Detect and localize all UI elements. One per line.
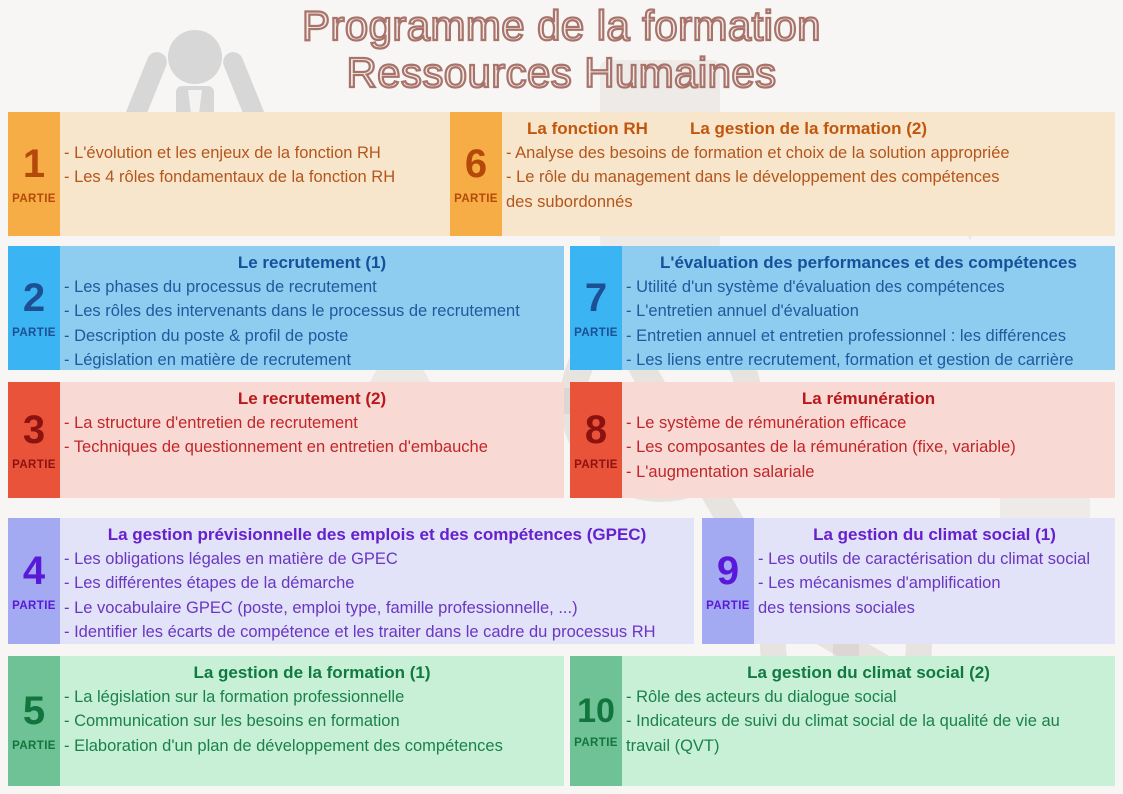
partie-label: PARTIE: [454, 193, 498, 205]
section-content-2: Le recrutement (1)- Les phases du proces…: [64, 246, 560, 370]
section-content-9: La gestion du climat social (1)- Les out…: [758, 518, 1111, 644]
section-bullet: - Utilité d'un système d'évaluation des …: [626, 275, 1111, 299]
section-panel-3[interactable]: 3PARTIELe recrutement (2)- La structure …: [8, 382, 564, 498]
partie-label: PARTIE: [12, 459, 56, 471]
section-panel-2[interactable]: 2PARTIELe recrutement (1)- Les phases du…: [8, 246, 564, 370]
section-content-6: La gestion de la formation (2)- Analyse …: [506, 112, 1111, 236]
section-bullet: - Techniques de questionnement en entret…: [64, 435, 560, 459]
section-title-8: La rémunération: [626, 389, 1111, 409]
section-bullet: - Législation en matière de recrutement: [64, 348, 560, 372]
section-bullet: - Les obligations légales en matière de …: [64, 547, 690, 571]
partie-label: PARTIE: [12, 327, 56, 339]
section-row-5: 5PARTIELa gestion de la formation (1)- L…: [8, 656, 1115, 786]
sections-grid: 1PARTIELa fonction RH- L'évolution et le…: [0, 0, 1123, 794]
section-content-4: La gestion prévisionnelle des emplois et…: [64, 518, 690, 644]
section-content-10: La gestion du climat social (2)- Rôle de…: [626, 656, 1111, 786]
section-title-9: La gestion du climat social (1): [758, 525, 1111, 545]
section-bullet: - Les phases du processus de recrutement: [64, 275, 560, 299]
section-title-6: La gestion de la formation (2): [506, 119, 1111, 139]
title-line-2: Ressources Humaines: [0, 49, 1123, 96]
partie-label: PARTIE: [574, 459, 618, 471]
partie-badge-4[interactable]: 4PARTIE: [8, 518, 60, 644]
section-panel-7[interactable]: 7PARTIEL'évaluation des performances et …: [570, 246, 1115, 370]
section-bullet: - Les outils de caractérisation du clima…: [758, 547, 1111, 571]
section-panel-4[interactable]: 4PARTIELa gestion prévisionnelle des emp…: [8, 518, 694, 644]
partie-number: 1: [23, 145, 45, 183]
section-bullet: - La législation sur la formation profes…: [64, 685, 560, 709]
section-title-3: Le recrutement (2): [64, 389, 560, 409]
partie-badge-10[interactable]: 10PARTIE: [570, 656, 622, 786]
section-bullet: - La structure d'entretien de recrutemen…: [64, 411, 560, 435]
partie-label: PARTIE: [12, 600, 56, 612]
partie-number: 2: [23, 279, 45, 317]
section-bullet: - Rôle des acteurs du dialogue social: [626, 685, 1111, 709]
partie-number: 8: [585, 411, 607, 449]
partie-label: PARTIE: [574, 327, 618, 339]
section-bullet: - Les mécanismes d'amplification: [758, 571, 1111, 595]
section-content-3: Le recrutement (2)- La structure d'entre…: [64, 382, 560, 498]
section-bullet: - Le système de rémunération efficace: [626, 411, 1111, 435]
section-title-5: La gestion de la formation (1): [64, 663, 560, 683]
section-bullet: - Analyse des besoins de formation et ch…: [506, 141, 1111, 165]
section-row-3: 3PARTIELe recrutement (2)- La structure …: [8, 382, 1115, 498]
section-bullet: - Communication sur les besoins en forma…: [64, 709, 560, 733]
section-bullet: - Les liens entre recrutement, formation…: [626, 348, 1111, 372]
partie-number: 9: [717, 552, 739, 590]
section-bullet: des subordonnés: [506, 190, 1111, 214]
section-bullet: - Les différentes étapes de la démarche: [64, 571, 690, 595]
partie-number: 5: [23, 692, 45, 730]
section-bullet: - Identifier les écarts de compétence et…: [64, 620, 690, 644]
partie-number: 7: [585, 279, 607, 317]
section-row-2: 2PARTIELe recrutement (1)- Les phases du…: [8, 246, 1115, 370]
partie-badge-7[interactable]: 7PARTIE: [570, 246, 622, 370]
partie-badge-9[interactable]: 9PARTIE: [702, 518, 754, 644]
section-panel-8[interactable]: 8PARTIELa rémunération- Le système de ré…: [570, 382, 1115, 498]
partie-number: 6: [465, 145, 487, 183]
section-bullet: - Description du poste & profil de poste: [64, 324, 560, 348]
partie-label: PARTIE: [12, 193, 56, 205]
section-bullet: - Le rôle du management dans le développ…: [506, 165, 1111, 189]
section-title-7: L'évaluation des performances et des com…: [626, 253, 1111, 273]
partie-label: PARTIE: [574, 737, 618, 749]
section-panel-9[interactable]: 9PARTIELa gestion du climat social (1)- …: [702, 518, 1115, 644]
section-bullet: - Les composantes de la rémunération (fi…: [626, 435, 1111, 459]
partie-number: 4: [23, 552, 45, 590]
partie-number: 3: [23, 411, 45, 449]
section-bullet: - Les rôles des intervenants dans le pro…: [64, 299, 560, 323]
section-bullet: - Le vocabulaire GPEC (poste, emploi typ…: [64, 596, 690, 620]
section-bullet: - Elaboration d'un plan de développement…: [64, 734, 560, 758]
section-row-4: 4PARTIELa gestion prévisionnelle des emp…: [8, 518, 1115, 644]
section-panel-5[interactable]: 5PARTIELa gestion de la formation (1)- L…: [8, 656, 564, 786]
title-line-1: Programme de la formation: [0, 2, 1123, 49]
section-bullet: des tensions sociales: [758, 596, 1111, 620]
section-content-5: La gestion de la formation (1)- La légis…: [64, 656, 560, 786]
section-bullet: travail (QVT): [626, 734, 1111, 758]
section-bullet: - L'augmentation salariale: [626, 460, 1111, 484]
partie-badge-8[interactable]: 8PARTIE: [570, 382, 622, 498]
section-bullet: - L'entretien annuel d'évaluation: [626, 299, 1111, 323]
section-panel-10[interactable]: 10PARTIELa gestion du climat social (2)-…: [570, 656, 1115, 786]
partie-badge-6[interactable]: 6PARTIE: [450, 112, 502, 236]
section-title-10: La gestion du climat social (2): [626, 663, 1111, 683]
section-bullet: - Entretien annuel et entretien professi…: [626, 324, 1111, 348]
section-title-4: La gestion prévisionnelle des emplois et…: [64, 525, 690, 545]
section-content-8: La rémunération- Le système de rémunérat…: [626, 382, 1111, 498]
section-row-1: 1PARTIELa fonction RH- L'évolution et le…: [8, 112, 1115, 236]
partie-badge-2[interactable]: 2PARTIE: [8, 246, 60, 370]
partie-number: 10: [577, 695, 615, 727]
section-content-7: L'évaluation des performances et des com…: [626, 246, 1111, 370]
page-title: Programme de la formation Ressources Hum…: [0, 2, 1123, 96]
partie-badge-1[interactable]: 1PARTIE: [8, 112, 60, 236]
partie-label: PARTIE: [12, 740, 56, 752]
section-bullet: - Indicateurs de suivi du climat social …: [626, 709, 1111, 733]
section-title-2: Le recrutement (1): [64, 253, 560, 273]
partie-badge-3[interactable]: 3PARTIE: [8, 382, 60, 498]
partie-label: PARTIE: [706, 600, 750, 612]
partie-badge-5[interactable]: 5PARTIE: [8, 656, 60, 786]
section-panel-6[interactable]: 6PARTIELa gestion de la formation (2)- A…: [450, 112, 1115, 236]
